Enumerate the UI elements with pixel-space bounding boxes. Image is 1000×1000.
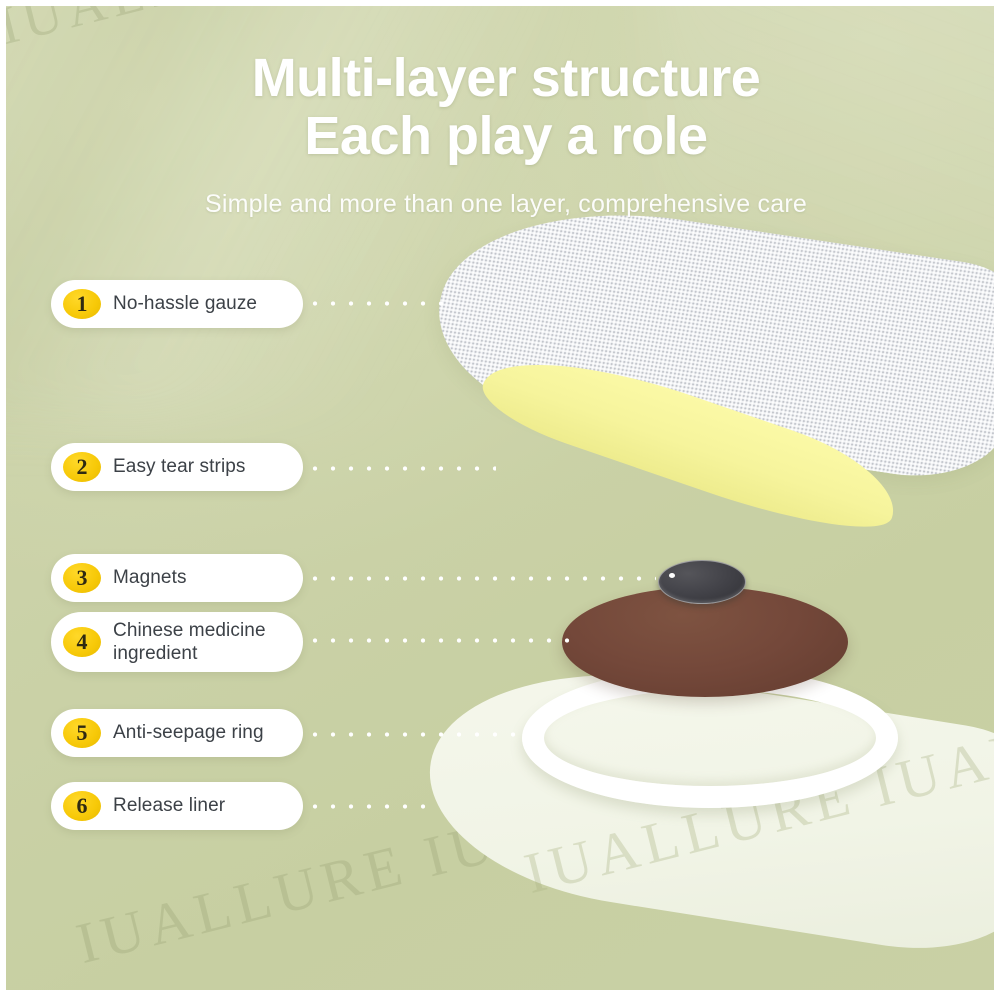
watermark-bottom-left: IUALLURE IU [70, 808, 505, 977]
easy-tear-strip-layer [474, 330, 909, 551]
magnet-disc-layer [658, 560, 746, 604]
legend-badge-2: 2 [63, 452, 101, 482]
anti-seepage-ring-layer [522, 668, 898, 808]
connector-dots-2 [306, 466, 496, 471]
connector-dots-4 [306, 638, 576, 643]
legend-item-3[interactable]: 3 Magnets [51, 554, 303, 602]
legend-badge-4: 4 [63, 627, 101, 657]
watermark-bottom-right: IUALLURE IUALL [518, 706, 994, 907]
connector-dots-3 [306, 576, 656, 581]
release-liner-layer [410, 644, 994, 965]
legend-item-1[interactable]: 1 No-hassle gauze [51, 280, 303, 328]
page-title-line-1: Multi-layer structure [6, 50, 994, 108]
chinese-medicine-disc-layer [562, 587, 848, 697]
legend-badge-3: 3 [63, 563, 101, 593]
connector-dots-6 [306, 804, 436, 809]
legend-badge-5: 5 [63, 718, 101, 748]
background-canvas: IUALLURE IUALLURE IU IUALLURE IUALL Mult… [6, 6, 994, 990]
legend-item-2[interactable]: 2 Easy tear strips [51, 443, 303, 491]
legend-item-4[interactable]: 4 Chinese medicine ingredient [51, 612, 303, 672]
page-title-line-2: Each play a role [6, 108, 994, 166]
connector-dots-5 [306, 732, 536, 737]
no-hassle-gauze-layer [419, 187, 994, 489]
legend-label-1: No-hassle gauze [113, 292, 257, 315]
legend-label-4: Chinese medicine ingredient [113, 619, 266, 665]
legend-item-6[interactable]: 6 Release liner [51, 782, 303, 830]
legend-label-3: Magnets [113, 566, 187, 589]
legend-item-5[interactable]: 5 Anti-seepage ring [51, 709, 303, 757]
legend-label-5: Anti-seepage ring [113, 721, 264, 744]
legend-label-6: Release liner [113, 794, 225, 817]
connector-dots-1 [306, 301, 446, 306]
legend-badge-6: 6 [63, 791, 101, 821]
magnet-highlight-dot [669, 573, 675, 578]
legend-badge-1: 1 [63, 289, 101, 319]
watermark-top-left: IUALLURE [6, 6, 316, 57]
legend-label-2: Easy tear strips [113, 455, 246, 478]
product-layer-infographic: IUALLURE IUALLURE IU IUALLURE IUALL Mult… [0, 0, 1000, 1000]
page-subtitle: Simple and more than one layer, comprehe… [6, 190, 994, 219]
page-heading: Multi-layer structure Each play a role S… [6, 50, 994, 219]
